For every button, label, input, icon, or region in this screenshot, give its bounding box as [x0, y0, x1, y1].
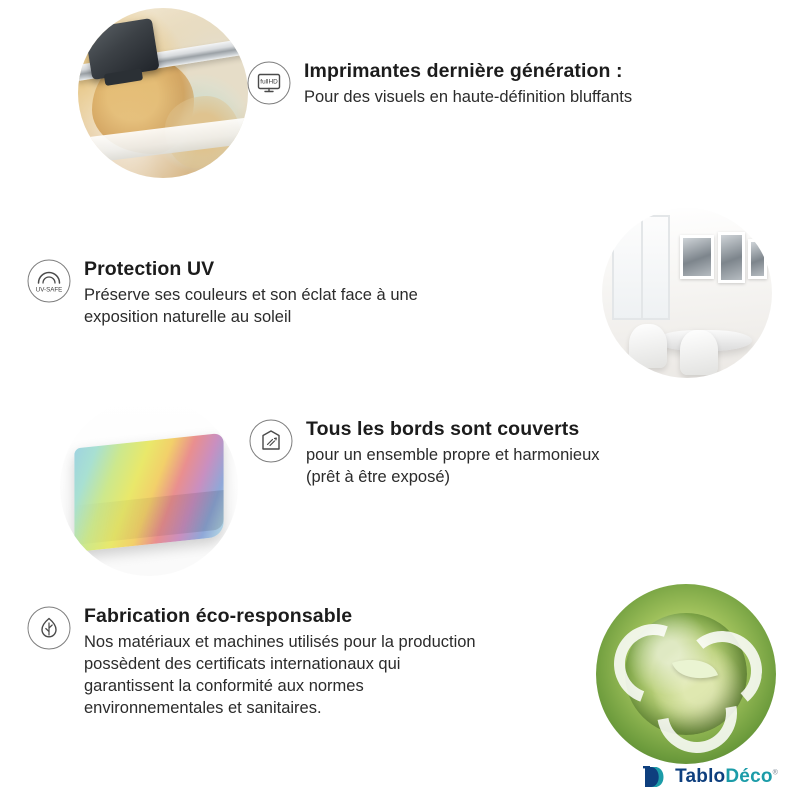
feature-text: Tous les bords sont couverts pour un ens…	[306, 418, 600, 489]
room-window	[612, 215, 670, 320]
wall-frame	[748, 239, 767, 280]
feature-title: Tous les bords sont couverts	[306, 418, 600, 441]
feature-body-line: Nos matériaux et machines utilisés pour …	[84, 632, 476, 654]
brand-name: TabloDéco®	[675, 766, 778, 788]
wall-frame	[718, 232, 745, 283]
feature-covered-edges: Tous les bords sont couverts pour un ens…	[248, 418, 718, 489]
room-chair	[629, 324, 666, 368]
eco-globe-photo	[596, 584, 776, 764]
feature-eco-manufacturing: Fabrication éco-responsable Nos matériau…	[26, 605, 596, 720]
brand-name-part1: Tablo	[675, 766, 725, 787]
feature-title: Imprimantes dernière génération :	[304, 60, 632, 83]
feature-body-line: possèdent des certificats internationaux…	[84, 654, 476, 676]
printer-head-photo	[78, 8, 248, 178]
trademark-symbol: ®	[773, 770, 778, 777]
feature-body: Nos matériaux et machines utilisés pour …	[84, 632, 476, 720]
fullhd-monitor-icon: fullHD	[246, 60, 292, 106]
svg-text:UV-SAFE: UV-SAFE	[36, 287, 62, 294]
svg-text:fullHD: fullHD	[260, 79, 278, 86]
room-chair	[680, 330, 717, 374]
feature-printers: fullHD Imprimantes dernière génération :…	[246, 60, 766, 109]
brand-logo[interactable]: TabloDéco®	[643, 764, 778, 790]
feature-body-line: exposition naturelle au soleil	[84, 307, 418, 329]
feature-body-line: garantissent la conformité aux normes	[84, 676, 476, 698]
feature-body: Préserve ses couleurs et son éclat face …	[84, 285, 418, 329]
living-room-photo	[602, 208, 772, 378]
feature-body: pour un ensemble propre et harmonieux (p…	[306, 445, 600, 489]
feature-title: Protection UV	[84, 258, 418, 281]
feature-text: Imprimantes dernière génération : Pour d…	[304, 60, 632, 109]
feature-text: Fabrication éco-responsable Nos matériau…	[84, 605, 476, 720]
feature-body-line: pour un ensemble propre et harmonieux	[306, 445, 600, 467]
canvas-corner-photo	[60, 398, 238, 576]
tablodeco-logo-icon	[643, 764, 669, 790]
eco-leaf-icon	[26, 605, 72, 651]
printer-head	[85, 18, 160, 80]
feature-title: Fabrication éco-responsable	[84, 605, 476, 628]
feature-body-line: (prêt à être exposé)	[306, 467, 600, 489]
feature-body-line: environnementales et sanitaires.	[84, 698, 476, 720]
covered-edges-icon	[248, 418, 294, 464]
wall-frame	[680, 235, 714, 279]
feature-body-line: Pour des visuels en haute-définition blu…	[304, 87, 632, 109]
feature-uv-protection: UV-SAFE Protection UV Préserve ses coule…	[26, 258, 546, 329]
uv-safe-icon: UV-SAFE	[26, 258, 72, 304]
feature-body: Pour des visuels en haute-définition blu…	[304, 87, 632, 109]
feature-body-line: Préserve ses couleurs et son éclat face …	[84, 285, 418, 307]
feature-text: Protection UV Préserve ses couleurs et s…	[84, 258, 418, 329]
brand-name-part2: Déco	[725, 766, 772, 787]
